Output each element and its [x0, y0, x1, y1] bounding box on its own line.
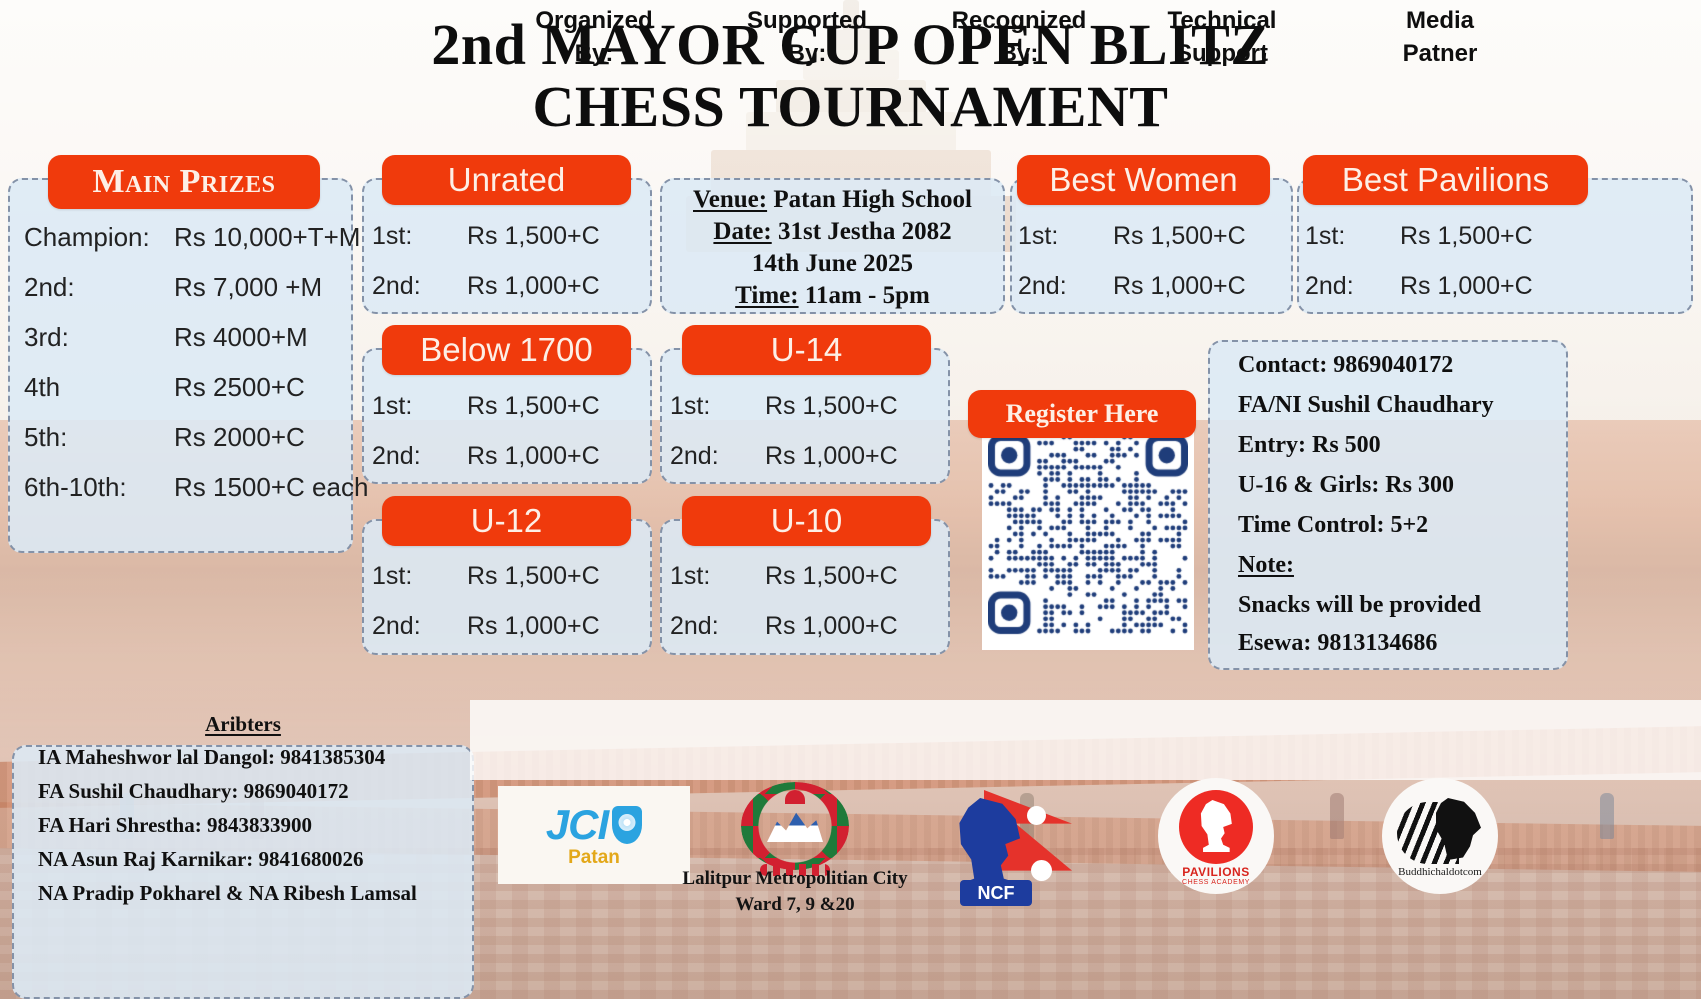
category-prize-row: 1st: Rs 1,500+C	[372, 222, 600, 251]
category-prize-row: 2nd: Rs 1,000+C	[372, 272, 600, 301]
pavilions-chess-academy-logo: PAVILIONS CHESS ACADEMY	[1158, 778, 1274, 894]
prize-label: 1st:	[670, 562, 765, 591]
prize-value: Rs 1,000+C	[467, 612, 600, 641]
sponsor-label-line1: Recognized	[919, 4, 1119, 37]
venue-label: Venue:	[693, 186, 767, 213]
contact-line: Entry: Rs 500	[1238, 432, 1381, 459]
prize-value: Rs 7,000 +M	[174, 272, 322, 303]
sponsor-label-line1: Supported	[707, 4, 907, 37]
category-prize-row: 1st: Rs 1,500+C	[1305, 222, 1533, 251]
category-prize-row: 1st: Rs 1,500+C	[1018, 222, 1246, 251]
category-prize-row: 1st: Rs 1,500+C	[670, 392, 898, 421]
prize-label: 5th:	[24, 422, 174, 453]
category-prize-row: 1st: Rs 1,500+C	[372, 562, 600, 591]
sun-icon	[1031, 860, 1052, 881]
sponsor-label-line2: Support	[1122, 37, 1322, 70]
lalitpur-caption-line2: Ward 7, 9 &20	[645, 894, 945, 916]
nepal-cap-icon	[785, 790, 805, 804]
prize-label: 2nd:	[372, 442, 467, 471]
ncf-wordmark: NCF	[960, 880, 1032, 906]
date-value: 31st Jestha 2082	[778, 218, 952, 245]
arbiter-line: NA Asun Raj Karnikar: 9841680026	[38, 847, 364, 872]
arbiter-line: NA Pradip Pokharel & NA Ribesh Lamsal	[38, 881, 417, 906]
prize-label: Champion:	[24, 222, 174, 253]
sponsor-label-line2: By:	[707, 37, 907, 70]
main-prize-row: 2nd: Rs 7,000 +M	[24, 272, 322, 303]
time-value: 11am - 5pm	[805, 282, 930, 309]
moon-icon	[1027, 806, 1046, 825]
jci-patan-sublabel: Patan	[568, 847, 620, 869]
category-prize-row: 1st: Rs 1,500+C	[670, 562, 898, 591]
contact-line: FA/NI Sushil Chaudhary	[1238, 392, 1494, 419]
prize-label: 6th-10th:	[24, 472, 174, 503]
registration-qr-code[interactable]	[982, 428, 1194, 650]
category-prize-row: 2nd: Rs 1,000+C	[670, 442, 898, 471]
sponsor-label-line2: Patner	[1340, 37, 1540, 70]
qr-canvas[interactable]	[988, 434, 1188, 644]
prize-label: 3rd:	[24, 322, 174, 353]
prize-value: Rs 1,000+C	[765, 442, 898, 471]
contact-line: Contact: 9869040172	[1238, 352, 1453, 379]
sponsor-label-line1: Media	[1340, 4, 1540, 37]
prize-label: 2nd:	[670, 612, 765, 641]
prize-value: Rs 1,000+C	[467, 272, 600, 301]
prize-label: 1st:	[670, 392, 765, 421]
arbiter-line: FA Hari Shrestha: 9843833900	[38, 813, 312, 838]
prize-value: Rs 1,500+C	[765, 392, 898, 421]
prize-value: Rs 2500+C	[174, 372, 305, 403]
sponsor-label-organized: Organized By:	[494, 4, 694, 70]
prize-label: 2nd:	[372, 612, 467, 641]
pavilions-disc	[1179, 790, 1253, 864]
best-pavilions-heading: Best Pavilions	[1303, 155, 1588, 205]
sponsor-label-line2: By:	[919, 37, 1119, 70]
prize-value: Rs 4000+M	[174, 322, 308, 353]
prize-value: Rs 1,500+C	[467, 222, 600, 251]
arbiters-heading: Aribters	[12, 712, 474, 737]
below-1700-heading: Below 1700	[382, 325, 631, 375]
time-label: Time:	[735, 282, 798, 309]
main-prize-row: 4th Rs 2500+C	[24, 372, 305, 403]
prize-value: Rs 1,500+C	[467, 562, 600, 591]
category-prize-row: 2nd: Rs 1,000+C	[670, 612, 898, 641]
sponsor-label-media: Media Patner	[1340, 4, 1540, 70]
venue-value: Patan High School	[773, 186, 972, 213]
category-prize-row: 2nd: Rs 1,000+C	[1018, 272, 1246, 301]
lalitpur-caption-line1: Lalitpur Metropolitian City	[645, 868, 945, 890]
note-label: Note:	[1238, 552, 1294, 579]
arbiter-line: FA Sushil Chaudhary: 9869040172	[38, 779, 349, 804]
prize-label: 1st:	[372, 392, 467, 421]
register-here-heading: Register Here	[968, 390, 1196, 438]
prize-label: 1st:	[1018, 222, 1113, 251]
venue-line: Venue: Patan High School	[660, 186, 1005, 214]
prize-value: Rs 1,500+C	[765, 562, 898, 591]
main-prize-row: Champion: Rs 10,000+T+M	[24, 222, 360, 253]
jci-shield-icon	[612, 806, 642, 844]
prize-value: Rs 2000+C	[174, 422, 305, 453]
date-line: Date: 31st Jestha 2082	[660, 218, 1005, 246]
prize-value: Rs 1,500+C	[467, 392, 600, 421]
prize-label: 2nd:	[24, 272, 174, 303]
knight-chess-piece-icon	[1198, 800, 1234, 852]
note-line: Snacks will be provided	[1238, 592, 1481, 619]
prize-value: Rs 1,000+C	[467, 442, 600, 471]
best-women-heading: Best Women	[1017, 155, 1270, 205]
arbiter-line: IA Maheshwor lal Dangol: 9841385304	[38, 745, 385, 770]
ncf-logo: NCF	[946, 790, 1072, 906]
unrated-heading: Unrated	[382, 155, 631, 205]
contact-line: U-16 & Girls: Rs 300	[1238, 472, 1454, 499]
sponsor-label-supported: Supported By:	[707, 4, 907, 70]
buddhichaldotcom-logo: Buddhichaldotcom	[1382, 778, 1498, 894]
sponsor-label-line1: Organized	[494, 4, 694, 37]
sponsor-label-line2: By:	[494, 37, 694, 70]
note-line: Esewa: 9813134686	[1238, 630, 1437, 657]
jci-wordmark: JCI	[546, 801, 608, 849]
category-prize-row: 2nd: Rs 1,000+C	[372, 612, 600, 641]
u12-heading: U-12	[382, 496, 631, 546]
prize-label: 2nd:	[372, 272, 467, 301]
prize-value: Rs 1500+C each	[174, 472, 368, 503]
sponsor-label-technical: Technical Support	[1122, 4, 1322, 70]
u14-heading: U-14	[682, 325, 931, 375]
prize-label: 2nd:	[670, 442, 765, 471]
prize-value: Rs 1,500+C	[1400, 222, 1533, 251]
pavilions-sublabel: CHESS ACADEMY	[1182, 879, 1250, 886]
pavilions-wordmark: PAVILIONS	[1182, 865, 1249, 879]
date-line-english: 14th June 2025	[660, 250, 1005, 278]
main-prize-row: 6th-10th: Rs 1500+C each	[24, 472, 368, 503]
prize-value: Rs 1,500+C	[1113, 222, 1246, 251]
main-prize-row: 3rd: Rs 4000+M	[24, 322, 308, 353]
u10-heading: U-10	[682, 496, 931, 546]
prize-label: 2nd:	[1018, 272, 1113, 301]
prize-label: 2nd:	[1305, 272, 1400, 301]
main-prize-row: 5th: Rs 2000+C	[24, 422, 305, 453]
contact-info-card	[1208, 340, 1568, 670]
prize-value: Rs 1,000+C	[765, 612, 898, 641]
prize-label: 4th	[24, 372, 174, 403]
category-prize-row: 1st: Rs 1,500+C	[372, 392, 600, 421]
main-prizes-heading: Main Prizes	[48, 155, 320, 209]
sponsor-label-recognized: Recognized By:	[919, 4, 1119, 70]
time-line: Time: 11am - 5pm	[660, 282, 1005, 310]
prize-value: Rs 10,000+T+M	[174, 222, 360, 253]
prize-value: Rs 1,000+C	[1113, 272, 1246, 301]
contact-line: Time Control: 5+2	[1238, 512, 1428, 539]
prize-value: Rs 1,000+C	[1400, 272, 1533, 301]
title-line-2: CHESS TOURNAMENT	[0, 76, 1701, 138]
prize-label: 1st:	[372, 222, 467, 251]
category-prize-row: 2nd: Rs 1,000+C	[372, 442, 600, 471]
sponsor-label-strip	[470, 700, 1701, 780]
prize-label: 1st:	[1305, 222, 1400, 251]
date-label: Date:	[713, 218, 771, 245]
prize-label: 1st:	[372, 562, 467, 591]
category-prize-row: 2nd: Rs 1,000+C	[1305, 272, 1533, 301]
sponsor-label-line1: Technical	[1122, 4, 1322, 37]
